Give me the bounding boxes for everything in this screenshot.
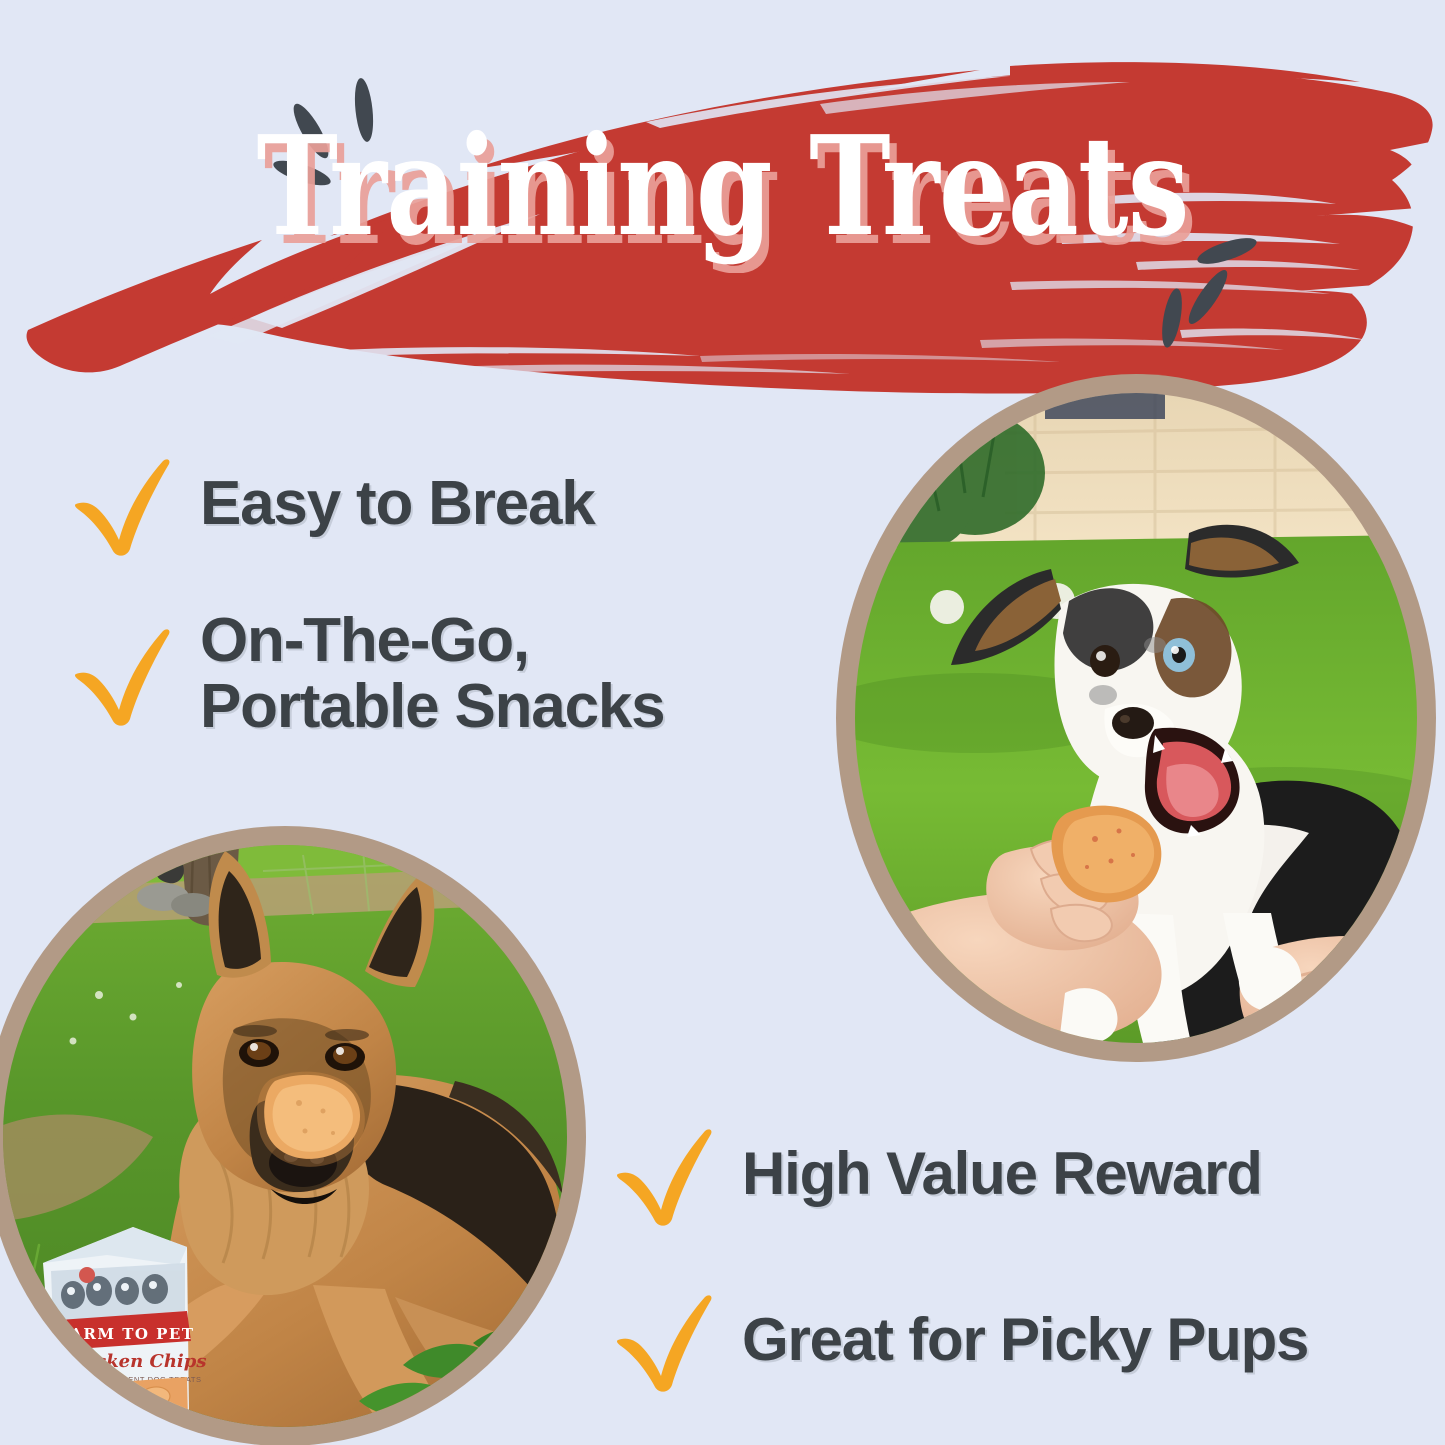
check-icon bbox=[70, 452, 174, 556]
check-icon bbox=[70, 622, 174, 726]
check-icon bbox=[612, 1122, 716, 1226]
feature-label: Easy to Break bbox=[200, 471, 595, 537]
header-banner: Training Treats bbox=[0, 0, 1445, 400]
feature-item-high-value-reward: High Value Reward bbox=[612, 1122, 1262, 1226]
poster-canvas: Training Treats Easy to Break On-The-Go,… bbox=[0, 0, 1445, 1445]
accent-marks-left bbox=[271, 77, 376, 190]
photo-inner: FARM TO PET Chicken Chips SINGLE INGREDI… bbox=[3, 845, 567, 1427]
photo-german-shepherd-balancing-treat: FARM TO PET Chicken Chips SINGLE INGREDI… bbox=[0, 826, 586, 1445]
feature-label: Great for Picky Pups bbox=[742, 1308, 1308, 1372]
check-icon bbox=[612, 1288, 716, 1392]
photo-inner bbox=[855, 393, 1417, 1043]
bag-brand-text: FARM TO PET bbox=[59, 1325, 195, 1343]
brush-stroke-banner bbox=[0, 0, 1445, 400]
feature-item-on-the-go: On-The-Go, Portable Snacks bbox=[70, 608, 664, 739]
bag-product-name: Chicken Chips bbox=[61, 1351, 206, 1372]
feature-item-picky-pups: Great for Picky Pups bbox=[612, 1288, 1308, 1392]
product-bag: FARM TO PET Chicken Chips SINGLE INGREDI… bbox=[43, 1227, 206, 1427]
feature-label: High Value Reward bbox=[742, 1142, 1262, 1206]
feature-label: On-The-Go, Portable Snacks bbox=[200, 608, 664, 739]
photo-collie-catching-treat: Blue merle border collie leaping with mo… bbox=[836, 374, 1436, 1062]
feature-item-easy-to-break: Easy to Break bbox=[70, 452, 595, 556]
